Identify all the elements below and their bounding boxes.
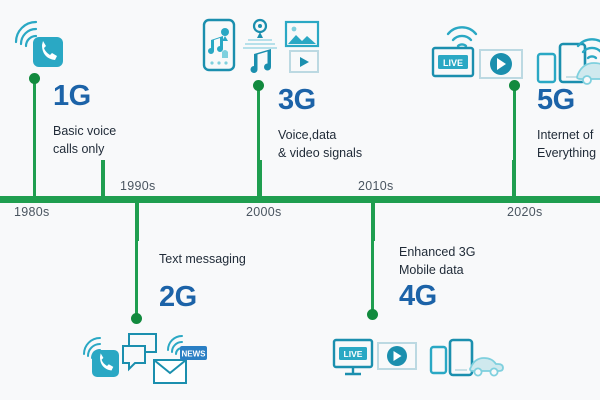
node-stem-4g (371, 199, 374, 315)
node-dot-2g (131, 313, 142, 324)
node-stem-2g (135, 199, 138, 319)
smartphone-icon (204, 20, 234, 70)
envelope-icon (154, 360, 186, 383)
timeline-tick-1980s (101, 160, 105, 200)
signal-arc-icon (168, 336, 182, 354)
description-line: & video signals (278, 144, 362, 162)
node-dot-1g (29, 73, 40, 84)
decade-label-2000s: 2000s (246, 205, 282, 219)
play-button-icon (378, 343, 416, 369)
live-tv-icon: LIVE (334, 340, 372, 374)
icon-group-2g-messaging: NEWS (82, 332, 208, 390)
icon-group-1g-phone-signal (12, 18, 68, 70)
caption-line: Enhanced 3G (399, 243, 475, 261)
music-note-icon (251, 49, 272, 73)
timeline-axis-bar (0, 196, 600, 203)
description-line: calls only (53, 140, 116, 158)
wifi-icon (578, 39, 600, 58)
news-badge-icon: NEWS (180, 346, 207, 360)
icon-group-3g-multimedia (202, 18, 320, 74)
node-dot-3g (253, 80, 264, 91)
photo-icon (286, 22, 318, 46)
generation-caption-4g: Enhanced 3G Mobile data (399, 243, 475, 279)
generation-label-4g: 4G (399, 280, 437, 313)
caption-line: Mobile data (399, 261, 475, 279)
description-line: Everything (537, 144, 596, 162)
phone-icon (33, 37, 63, 67)
generation-description-5g: Internet of Everything (537, 126, 596, 162)
decade-label-1990s: 1990s (120, 179, 156, 193)
caption-line: Text messaging (159, 250, 246, 268)
node-stem-1g (33, 78, 36, 200)
node-dot-4g (367, 309, 378, 320)
wifi-icon (448, 27, 476, 46)
icon-group-5g-connected-everything: LIVE (428, 22, 600, 76)
node-stem-5g (513, 85, 516, 200)
icon-group-4g-streaming-devices: LIVE (332, 338, 496, 388)
phone-icon (92, 350, 119, 377)
description-line: Basic voice (53, 122, 116, 140)
description-line: Internet of (537, 126, 596, 144)
generation-description-1g: Basic voice calls only (53, 122, 116, 158)
timeline-infographic: 1980s 1990s 2000s 2010s 2020s 1G Basic v… (0, 0, 600, 400)
generation-label-1g: 1G (53, 80, 91, 113)
news-badge-label: NEWS (182, 350, 207, 359)
description-line: Voice,data (278, 126, 362, 144)
play-button-icon (290, 51, 318, 72)
node-dot-5g (509, 80, 520, 91)
car-icon (470, 358, 503, 376)
generation-description-3g: Voice,data & video signals (278, 126, 362, 162)
live-badge-label: LIVE (443, 58, 463, 68)
signal-arc-icon (16, 22, 36, 46)
devices-icon (431, 340, 472, 375)
node-stem-3g (257, 85, 260, 200)
generation-label-3g: 3G (278, 84, 316, 117)
generation-label-2g: 2G (159, 281, 197, 314)
live-badge-label: LIVE (344, 349, 363, 359)
location-pin-icon (243, 20, 277, 48)
play-button-icon (480, 50, 522, 78)
live-tv-icon: LIVE (433, 48, 473, 76)
decade-label-2010s: 2010s (358, 179, 394, 193)
generation-label-5g: 5G (537, 84, 575, 117)
chat-bubble-icon (123, 334, 156, 369)
decade-label-1980s: 1980s (14, 205, 50, 219)
generation-caption-2g: Text messaging (159, 250, 246, 268)
decade-label-2020s: 2020s (507, 205, 543, 219)
